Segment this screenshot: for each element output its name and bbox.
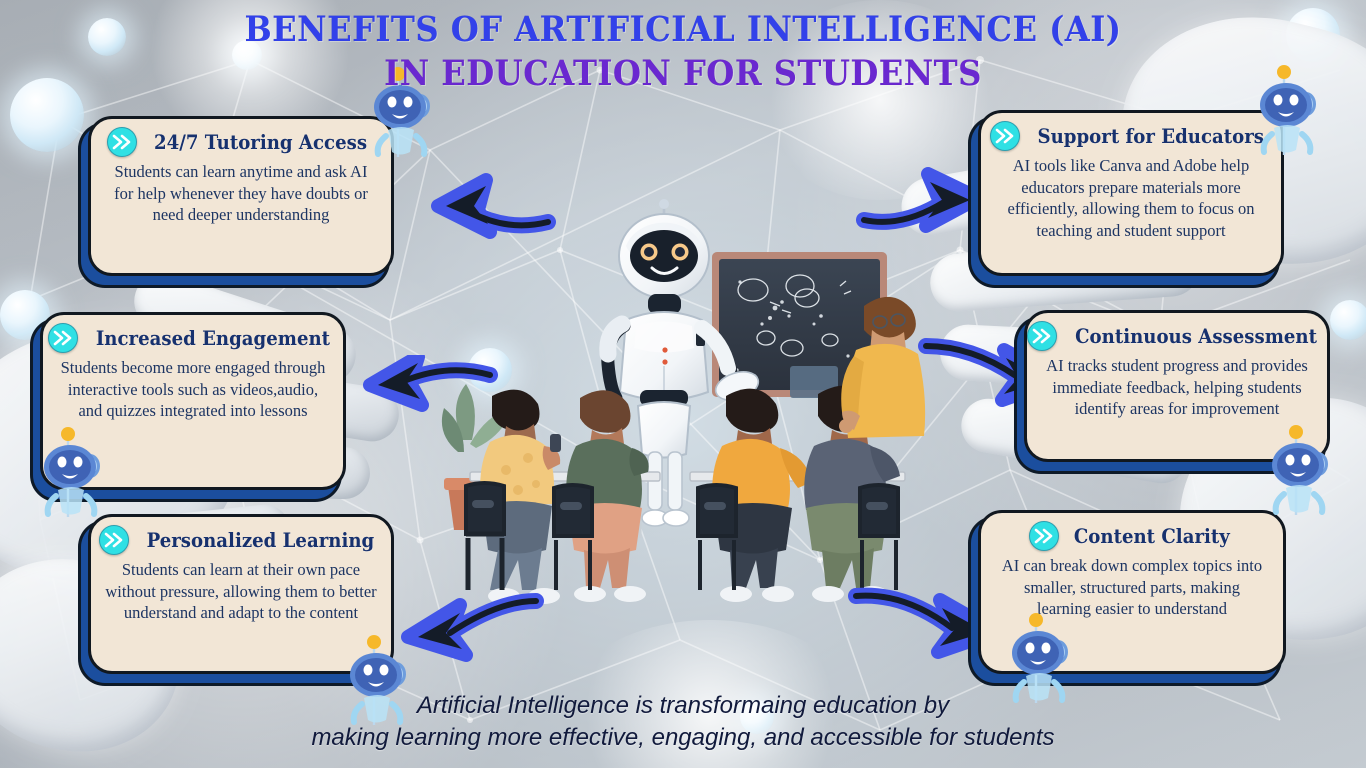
- card-title: Increased Engagement: [95, 327, 329, 350]
- title-line-1: BENEFITS OF ARTIFICIAL INTELLIGENCE (AI): [55, 8, 1312, 52]
- card-body: Students can learn anytime and ask AI fo…: [103, 161, 379, 226]
- card-body: AI tracks student progress and provides …: [1039, 355, 1315, 420]
- double-chevron-icon: [990, 121, 1020, 151]
- card-header: Content Clarity: [993, 521, 1271, 551]
- card-header: Continuous Assessment: [1039, 321, 1315, 351]
- card-body: AI tools like Canva and Adobe help educa…: [993, 155, 1269, 241]
- card-title: 24/7 Tutoring Access: [154, 131, 367, 154]
- arrow-to-engagement: [348, 355, 498, 425]
- robot-mascot-mid-right: [1256, 420, 1338, 525]
- card-header: Personalized Learning: [103, 525, 379, 555]
- robot-mascot-mid-left: [28, 422, 110, 527]
- double-chevron-icon: [99, 525, 129, 555]
- card-header: Support for Educators: [993, 121, 1269, 151]
- card-title: Continuous Assessment: [1076, 325, 1318, 348]
- double-chevron-icon: [107, 127, 137, 157]
- card-header: Increased Engagement: [55, 323, 331, 353]
- caption-line-2: making learning more effective, engaging…: [0, 722, 1366, 754]
- title-line-2: IN EDUCATION FOR STUDENTS: [55, 52, 1312, 96]
- card-title: Personalized Learning: [147, 529, 375, 552]
- card-tutoring[interactable]: 24/7 Tutoring Access Students can learn …: [88, 116, 394, 276]
- double-chevron-icon: [1029, 521, 1059, 551]
- caption-line-1: Artificial Intelligence is transformaing…: [0, 690, 1366, 722]
- footer-caption: Artificial Intelligence is transformaing…: [0, 690, 1366, 754]
- card-support-for-educators[interactable]: Support for Educators AI tools like Canv…: [978, 110, 1284, 276]
- card-title: Content Clarity: [1074, 525, 1230, 548]
- card-body: Students can learn at their own pace wit…: [103, 559, 379, 624]
- infographic-canvas: BENEFITS OF ARTIFICIAL INTELLIGENCE (AI)…: [0, 0, 1366, 768]
- page-title: BENEFITS OF ARTIFICIAL INTELLIGENCE (AI)…: [0, 8, 1366, 96]
- arrow-to-tutoring: [408, 160, 558, 240]
- double-chevron-icon: [48, 323, 78, 353]
- ai-classroom-illustration: [440, 190, 940, 610]
- card-header: 24/7 Tutoring Access: [103, 127, 379, 157]
- double-chevron-icon: [1027, 321, 1057, 351]
- card-body: Students become more engaged through int…: [55, 357, 331, 422]
- card-title: Support for Educators: [1037, 125, 1263, 148]
